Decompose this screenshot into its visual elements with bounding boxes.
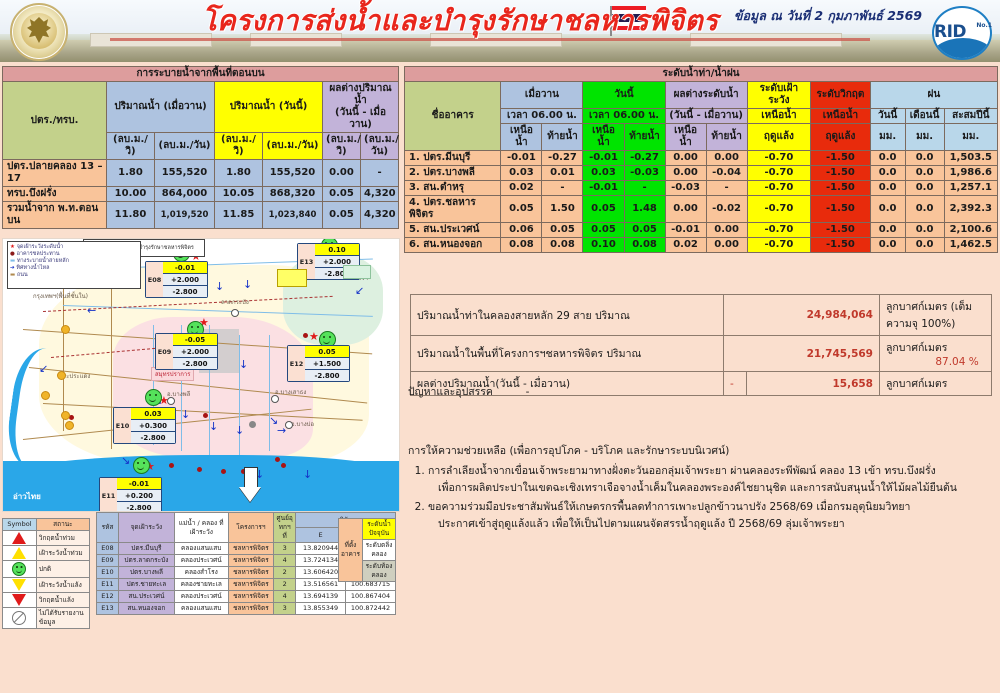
col-group-yesterday: ปริมาณน้ำ (เมื่อวาน) — [107, 82, 215, 133]
cell-rain-year: 2,100.6 — [944, 223, 997, 238]
road-icon: ▬ — [10, 272, 15, 278]
unit-y-day: (ลบ.ม./วัน) — [155, 133, 215, 160]
row-label: ทรบ.บึงฝรั่ง — [3, 187, 107, 202]
row-label: 4. ปตร.ชลหารพิจิตร — [405, 196, 501, 223]
station-code: E09 — [156, 334, 173, 369]
cell-project: ชลหารพิจิตร — [228, 543, 274, 555]
legend-label: ทิศทางน้ำไหล — [16, 265, 49, 271]
map-node-dot — [167, 397, 175, 405]
cell-warning: -0.70 — [747, 181, 811, 196]
table-row: เฝ้าระวังน้ำท่วม — [3, 546, 90, 561]
cell-rain-month: 0.0 — [905, 238, 944, 253]
cell-rain-month: 0.0 — [905, 151, 944, 166]
cell-center: 4 — [274, 555, 296, 567]
cell-y-down: -0.27 — [542, 151, 583, 166]
cell-code: E13 — [97, 603, 119, 615]
cell-diff-sec: 0.05 — [323, 202, 361, 229]
summary-label: ปริมาณน้ำในพื้นที่โครงการฯชลหารพิจิตร ปร… — [411, 336, 724, 372]
cell-point: ปตร.มีนบุรี — [118, 543, 174, 555]
cell-today-day: 155,520 — [263, 160, 323, 187]
cell-rain-year: 1,462.5 — [944, 238, 997, 253]
water-level-rainfall-table: ระดับน้ำท่า/น้ำฝน ชื่ออาคาร เมื่อวาน วัน… — [404, 66, 998, 253]
rid-logo-icon: RID No.1 — [928, 4, 994, 58]
cell-d-down: - — [706, 181, 747, 196]
subhdr-warn-dry: ฤดูแล้ง — [747, 124, 811, 151]
arrow-head — [239, 487, 261, 502]
map-outflow-arrow-icon — [239, 467, 261, 503]
cell-critical: -1.50 — [811, 196, 871, 223]
cell-y-up: 0.02 — [501, 181, 542, 196]
cell-t-down: 0.08 — [624, 238, 665, 253]
map-area-label: กรุงเทพฯ(พื้นที่ชั้นใน) — [33, 291, 88, 301]
legend-label: อาคารชลประทาน — [17, 251, 60, 257]
cell-t-up: 0.05 — [583, 196, 624, 223]
station-values: -0.01 +2.000 -2.800 — [163, 262, 207, 297]
cell-project: ชลหารพิจิตร — [228, 603, 274, 615]
cell-t-up: 0.10 — [583, 238, 624, 253]
cell-rain-month: 0.0 — [905, 196, 944, 223]
col-header-point: จุดเฝ้าระวัง — [118, 513, 174, 543]
cell-yesterday-sec: 10.00 — [107, 187, 155, 202]
status-label: เฝ้าระวังน้ำท่วม — [36, 546, 89, 561]
dashboard-page: โครงการส่งน้ำและบำรุงรักษาชลหารพิจิตร ข้… — [0, 0, 1000, 693]
cell-point: สน.ประเวศน์ — [118, 591, 174, 603]
cell-critical: -1.50 — [811, 151, 871, 166]
table-row: ไม่ได้รับรายงานข้อมูล — [3, 608, 90, 629]
level-color-legend-table: ที่ตั้งอาคาร ระดับน้ำปัจจุบัน ระดับตลิ่ง… — [338, 518, 396, 582]
station-current-level: -0.01 — [163, 262, 207, 274]
cell-north: 100.867404 — [346, 591, 396, 603]
cell-diff-day: - — [361, 160, 399, 187]
subhdr-warning-upstream: เหนือน้ำ — [747, 109, 811, 124]
station-code: E10 — [114, 408, 131, 443]
station-code: E11 — [100, 478, 117, 512]
map-legend-box: ★ จุดเฝ้าระวังระดับน้ำ ● อาคารชลประทาน ▬… — [7, 241, 141, 289]
map-node-dot — [249, 421, 256, 428]
cell-diff-sec: 0.05 — [323, 187, 361, 202]
station-bed-level: -2.800 — [117, 502, 161, 512]
col-group-difference: ผลต่างปริมาณน้ำ (วันนี้ - เมื่อวาน) — [323, 82, 399, 133]
table-row: E12 สน.ประเวศน์ คลองประเวศน์ ชลหารพิจิตร… — [97, 591, 396, 603]
cell-yesterday-sec: 11.80 — [107, 202, 155, 229]
page-footer — [0, 687, 1000, 693]
rid-logo-subtext: No.1 — [976, 22, 992, 29]
station-bed-level: -2.800 — [173, 358, 217, 369]
cell-d-down: -0.02 — [706, 196, 747, 223]
map-station-box[interactable]: E11 -0.01 +0.200 -2.800 — [99, 477, 162, 512]
table-row: ปกติ — [3, 561, 90, 578]
table-row: E13 สน.หนองจอก คลองแสนแสบ ชลหารพิจิตร 3 … — [97, 603, 396, 615]
cell-critical: -1.50 — [811, 181, 871, 196]
station-values: 0.03 +0.300 -2.800 — [131, 408, 175, 443]
map-canal — [269, 335, 270, 451]
cell-d-up: -0.01 — [665, 223, 706, 238]
table-row: วิกฤตน้ำแล้ง — [3, 593, 90, 608]
page-header: โครงการส่งน้ำและบำรุงรักษาชลหารพิจิตร ข้… — [0, 0, 1000, 62]
status-smiley-icon — [145, 389, 162, 406]
row-label: รวมน้ำจาก พ.ท.ตอนบน — [3, 202, 107, 229]
circle-slash-icon — [3, 608, 37, 629]
cell-d-up: 0.00 — [665, 196, 706, 223]
cell-t-down: -0.27 — [624, 151, 665, 166]
cell-y-down: 1.50 — [542, 196, 583, 223]
page-title: โครงการส่งน้ำและบำรุงรักษาชลหารพิจิตร — [150, 4, 770, 38]
subhdr-today-time: เวลา 06.00 น. — [583, 109, 665, 124]
triangle-up-yellow-icon — [3, 546, 37, 561]
subhdr-difference: (วันนี้ - เมื่อวาน) — [665, 109, 747, 124]
cell-today-day: 868,320 — [263, 187, 323, 202]
cell-point: ปตร.ชายทะเล — [118, 579, 174, 591]
col-group-critical-level: ระดับวิกฤต — [811, 82, 871, 109]
cell-d-down: 0.00 — [706, 223, 747, 238]
cell-yesterday-day: 864,000 — [155, 187, 215, 202]
cell-t-down: -0.03 — [624, 166, 665, 181]
cell-t-down: 1.48 — [624, 196, 665, 223]
cell-point: ปตร.ลาดกระบัง — [118, 555, 174, 567]
cell-warning: -0.70 — [747, 196, 811, 223]
table-row: 2. ปตร.บางพลี 0.03 0.01 0.03 -0.03 0.00 … — [405, 166, 998, 181]
station-bank-level: +0.300 — [131, 420, 175, 432]
cell-center: 2 — [274, 579, 296, 591]
cell-d-down: -0.04 — [706, 166, 747, 181]
circle-icon: ● — [10, 251, 15, 257]
table-header-row: ชื่ออาคาร เมื่อวาน วันนี้ ผลต่างระดับน้ำ… — [405, 82, 998, 109]
cell-d-up: 0.02 — [665, 238, 706, 253]
cell-today-sec: 10.05 — [215, 187, 263, 202]
cell-point: ปตร.บางพลี — [118, 567, 174, 579]
triangle-down-red-icon — [3, 593, 37, 608]
col-header-status: สถานะ — [36, 519, 89, 531]
map-gulf-label: อ่าวไทย — [13, 490, 41, 503]
cell-y-down: 0.08 — [542, 238, 583, 253]
status-label: ไม่ได้รับรายงานข้อมูล — [36, 608, 89, 629]
data-date-label: ข้อมูล ณ วันที่ 2 กุมภาพันธ์ 2569 — [734, 6, 922, 26]
map-junction-dot — [65, 421, 74, 430]
station-current-level: 0.10 — [315, 244, 359, 256]
legend-item: ➔ ทิศทางน้ำไหล — [10, 265, 138, 272]
symbol-status-legend-table: Symbol สถานะ วิกฤตน้ำท่วม เฝ้าระวังน้ำท่… — [2, 518, 90, 629]
cell-d-up: 0.00 — [665, 151, 706, 166]
station-current-level: 0.05 — [305, 346, 349, 358]
summary-unit-text: ลูกบาศก์เมตร — [886, 342, 947, 354]
table-title-row: การระบายน้ำจากพื้นที่ตอนบน — [3, 67, 399, 82]
cell-yesterday-day: 1,019,520 — [155, 202, 215, 229]
cell-rain-year: 1,503.5 — [944, 151, 997, 166]
legend-label: ถนน — [17, 272, 28, 278]
cell-t-up: 0.03 — [583, 166, 624, 181]
cell-d-down: 0.00 — [706, 151, 747, 166]
col-group-level-difference: ผลต่างระดับน้ำ — [665, 82, 747, 109]
map-junction-dot — [57, 371, 66, 380]
table-row: 6. สน.หนองจอก 0.08 0.08 0.10 0.08 0.02 0… — [405, 238, 998, 253]
legend-item: ▬ ถนน — [10, 272, 138, 279]
map-junction-dot — [61, 325, 70, 334]
cell-canal: คลองแสนแสบ — [174, 603, 228, 615]
station-bank-level: +0.200 — [117, 490, 161, 502]
map-area-label: อ.บางเสาธง — [275, 387, 306, 397]
legend-current-level: ระดับน้ำปัจจุบัน — [363, 519, 396, 540]
cell-point: สน.หนองจอก — [118, 603, 174, 615]
table-title-row: ระดับน้ำท่า/น้ำฝน — [405, 67, 998, 82]
unit-t-sec: (ลบ.ม./วิ) — [215, 133, 263, 160]
cell-y-down: 0.01 — [542, 166, 583, 181]
garuda-emblem-icon — [10, 3, 68, 61]
cell-warning: -0.70 — [747, 166, 811, 181]
legend-item: ★ จุดเฝ้าระวังระดับน้ำ — [10, 244, 138, 251]
cell-rain-month: 0.0 — [905, 223, 944, 238]
upper-area-drainage-table: การระบายน้ำจากพื้นที่ตอนบน ปตร./ทรบ. ปริ… — [2, 66, 399, 229]
table-row: 1. ปตร.มีนบุรี -0.01 -0.27 -0.01 -0.27 0… — [405, 151, 998, 166]
cell-rain-today: 0.0 — [870, 151, 905, 166]
cell-code: E12 — [97, 591, 119, 603]
cell-center: 4 — [274, 591, 296, 603]
summary-label: ปริมาณน้ำท่าในคลองสายหลัก 29 สาย ปริมาณ — [411, 295, 724, 336]
station-current-level: -0.05 — [173, 334, 217, 346]
project-area-map[interactable]: อ่าวไทย กรุงเทพฯ(พื้นที่ชั้นใน) สมุทรปรา… — [2, 238, 400, 512]
cell-rain-year: 1,257.1 — [944, 181, 997, 196]
problems-value: - — [526, 386, 530, 398]
summary-value: 21,745,569 — [724, 336, 880, 372]
col-group-today: วันนี้ — [583, 82, 665, 109]
cell-canal: คลองสำโรง — [174, 567, 228, 579]
subhdr-d-up: เหนือน้ำ — [665, 124, 706, 151]
map-area-label: ลาดกระบัง — [221, 297, 249, 307]
list-item: การลำเลียงน้ำจากเขื่อนเจ้าพระยามาทางฝั่ง… — [428, 463, 988, 497]
row-label: 2. ปตร.บางพลี — [405, 166, 501, 181]
cell-d-up: -0.03 — [665, 181, 706, 196]
cell-yesterday-sec: 1.80 — [107, 160, 155, 187]
cell-rain-month: 0.0 — [905, 166, 944, 181]
table-row: ทรบ.บึงฝรั่ง 10.00 864,000 10.05 868,320… — [3, 187, 399, 202]
col-header-building: ชื่ออาคาร — [405, 82, 501, 151]
cell-t-up: -0.01 — [583, 181, 624, 196]
cell-code: E08 — [97, 543, 119, 555]
map-junction-dot — [41, 391, 50, 400]
col-header-project: โครงการฯ — [228, 513, 274, 543]
unit-t-day: (ลบ.ม./วัน) — [263, 133, 323, 160]
status-smiley-icon — [133, 457, 150, 474]
station-bank-level: +1.500 — [305, 358, 349, 370]
legend-bed-level: ระดับท้องคลอง — [363, 561, 396, 582]
cell-code: E11 — [97, 579, 119, 591]
help-item-line2: ประกาศเข้าสู่ฤดูแล้งแล้ว เพื่อให้เป็นไปต… — [428, 516, 988, 533]
cell-rain-year: 2,392.3 — [944, 196, 997, 223]
legend-label: จุดเฝ้าระวังระดับน้ำ — [17, 244, 64, 250]
subhdr-rain-month: เดือนนี้ — [905, 109, 944, 124]
station-bank-level: +2.000 — [163, 274, 207, 286]
cell-canal: คลองประเวศน์ — [174, 555, 228, 567]
help-item-line2: เพื่อการผลิตประปาในเขตฉะเชิงเทราเจือจางน… — [428, 480, 988, 497]
legend-item: ▬ ทางระบายน้ำสายหลัก — [10, 258, 138, 265]
map-structure-dot — [221, 469, 226, 474]
problems-line: ปัญหาและอุปสรรค - — [408, 384, 988, 401]
map-callout-green — [343, 265, 371, 279]
cell-canal: คลองประเวศน์ — [174, 591, 228, 603]
row-label: 1. ปตร.มีนบุรี — [405, 151, 501, 166]
cell-y-down: - — [542, 181, 583, 196]
triangle-up-red-icon — [3, 531, 37, 546]
map-area-label: อ.บางบ่อ — [291, 419, 314, 429]
cell-critical: -1.50 — [811, 223, 871, 238]
cell-rain-today: 0.0 — [870, 223, 905, 238]
table-header-row: ปตร./ทรบ. ปริมาณน้ำ (เมื่อวาน) ปริมาณน้ำ… — [3, 82, 399, 133]
col-header-center: ศูนย์อุทกฯ ที่ — [274, 513, 296, 543]
table-row-total: รวมน้ำจาก พ.ท.ตอนบน 11.80 1,019,520 11.8… — [3, 202, 399, 229]
right-table-title: ระดับน้ำท่า/น้ำฝน — [405, 67, 998, 82]
col-header-symbol: Symbol — [3, 519, 37, 531]
map-canal — [239, 335, 240, 455]
subhdr-y-down: ท้ายน้ำ — [542, 124, 583, 151]
cell-t-up: 0.05 — [583, 223, 624, 238]
cell-warning: -0.70 — [747, 151, 811, 166]
triangle-down-yellow-icon — [3, 578, 37, 593]
station-bank-level: +2.000 — [173, 346, 217, 358]
map-structure-dot — [203, 413, 208, 418]
cell-rain-month: 0.0 — [905, 181, 944, 196]
cell-rain-today: 0.0 — [870, 166, 905, 181]
col-header-code: รหัส — [97, 513, 119, 543]
cell-diff-day: 4,320 — [361, 187, 399, 202]
table-row: ปตร.ปลายคลอง 13 – 17 1.80 155,520 1.80 1… — [3, 160, 399, 187]
station-values: -0.01 +0.200 -2.800 — [117, 478, 161, 512]
subhdr-unit-year: มม. — [944, 124, 997, 151]
cell-center: 2 — [274, 567, 296, 579]
table-row: 4. ปตร.ชลหารพิจิตร 0.05 1.50 0.05 1.48 0… — [405, 196, 998, 223]
subhdr-critical-upstream: เหนือน้ำ — [811, 109, 871, 124]
subhdr-t-down: ท้ายน้ำ — [624, 124, 665, 151]
row-label: 6. สน.หนองจอก — [405, 238, 501, 253]
unit-d-day: (ลบ.ม./วัน) — [361, 133, 399, 160]
subhdr-d-down: ท้ายน้ำ — [706, 124, 747, 151]
status-label: วิกฤตน้ำแล้ง — [36, 593, 89, 608]
help-item-line1: การลำเลียงน้ำจากเขื่อนเจ้าพระยามาทางฝั่ง… — [428, 465, 936, 477]
help-items-list: การลำเลียงน้ำจากเขื่อนเจ้าพระยามาทางฝั่ง… — [408, 463, 988, 533]
cell-code: E09 — [97, 555, 119, 567]
subhdr-rain-today: วันนี้ — [870, 109, 905, 124]
summary-unit: ลูกบาศก์เมตร 87.04 % — [880, 336, 992, 372]
problems-label: ปัญหาและอุปสรรค — [408, 386, 493, 398]
cell-y-down: 0.05 — [542, 223, 583, 238]
table-header-row: Symbol สถานะ — [3, 519, 90, 531]
map-callout-yellow — [277, 269, 307, 287]
cell-warning: -0.70 — [747, 223, 811, 238]
cell-project: ชลหารพิจิตร — [228, 555, 274, 567]
station-code: E12 — [288, 346, 305, 381]
help-title: การให้ความช่วยเหลือ (เพื่อการอุปโภค - บร… — [408, 443, 988, 460]
col-header-canal: แม่น้ำ / คลอง ที่ เฝ้าระวัง — [174, 513, 228, 543]
arrow-icon: ➔ — [10, 265, 15, 271]
station-current-level: 0.03 — [131, 408, 175, 420]
cell-rain-year: 1,986.6 — [944, 166, 997, 181]
cell-rain-today: 0.0 — [870, 196, 905, 223]
map-station-box[interactable]: E12 0.05 +1.500 -2.800 — [287, 345, 350, 382]
cell-yesterday-day: 155,520 — [155, 160, 215, 187]
map-structure-dot — [169, 463, 174, 468]
water-volume-summary-table: ปริมาณน้ำท่าในคลองสายหลัก 29 สาย ปริมาณ … — [410, 294, 992, 396]
summary-unit: ลูกบาศก์เมตร (เต็มความจุ 100%) — [880, 295, 992, 336]
unit-y-sec: (ลบ.ม./วิ) — [107, 133, 155, 160]
map-structure-dot — [281, 463, 286, 468]
smiley-green-icon — [3, 561, 37, 578]
map-station-box[interactable]: E08 -0.01 +2.000 -2.800 — [145, 261, 208, 298]
station-current-level: -0.01 — [117, 478, 161, 490]
table-row: 5. สน.ประเวศน์ 0.06 0.05 0.05 0.05 -0.01… — [405, 223, 998, 238]
summary-row: ปริมาณน้ำท่าในคลองสายหลัก 29 สาย ปริมาณ … — [411, 295, 992, 336]
subhdr-rain-year: สะสมปีนี้ — [944, 109, 997, 124]
subhdr-yesterday-time: เวลา 06.00 น. — [501, 109, 583, 124]
subhdr-crit-dry: ฤดูแล้ง — [811, 124, 871, 151]
col-group-warning-level: ระดับเฝ้าระวัง — [747, 82, 811, 109]
map-node-dot — [231, 309, 239, 317]
col-header-station: ปตร./ทรบ. — [3, 82, 107, 160]
station-values: -0.05 +2.000 -2.800 — [173, 334, 217, 369]
summary-value: 24,984,064 — [724, 295, 880, 336]
legend-bank-level: ระดับตลิ่งคลอง — [363, 540, 396, 561]
station-bed-level: -2.800 — [305, 370, 349, 381]
station-values: 0.05 +1.500 -2.800 — [305, 346, 349, 381]
star-icon: ★ — [10, 244, 15, 250]
cell-rain-today: 0.0 — [870, 238, 905, 253]
legend-label: ทางระบายน้ำสายหลัก — [17, 258, 69, 264]
station-code: E08 — [146, 262, 163, 297]
cell-diff-day: 4,320 — [361, 202, 399, 229]
col-group-rain: ฝน — [870, 82, 997, 109]
map-structure-dot — [197, 467, 202, 472]
help-item-line1: ขอความร่วมมือประชาสัมพันธ์ให้เกษตรกรพื้น… — [428, 501, 910, 513]
table-row: ที่ตั้งอาคาร ระดับน้ำปัจจุบัน — [339, 519, 396, 540]
row-label: 5. สน.ประเวศน์ — [405, 223, 501, 238]
summary-percent: 87.04 % — [935, 356, 978, 368]
summary-row: ปริมาณน้ำในพื้นที่โครงการฯชลหารพิจิตร ปร… — [411, 336, 992, 372]
table-row: วิกฤตน้ำท่วม — [3, 531, 90, 546]
cell-t-up: -0.01 — [583, 151, 624, 166]
cell-project: ชลหารพิจิตร — [228, 579, 274, 591]
cell-y-up: 0.08 — [501, 238, 542, 253]
cell-diff-sec: 0.00 — [323, 160, 361, 187]
col-group-today: ปริมาณน้ำ (วันนี้) — [215, 82, 323, 133]
table-row: 3. สน.ตำหรุ 0.02 - -0.01 - -0.03 - -0.70… — [405, 181, 998, 196]
subhdr-y-up: เหนือน้ำ — [501, 124, 542, 151]
row-label: ปตร.ปลายคลอง 13 – 17 — [3, 160, 107, 187]
map-station-box[interactable]: E10 0.03 +0.300 -2.800 — [113, 407, 176, 444]
subhdr-unit-month: มม. — [905, 124, 944, 151]
subhdr-t-up: เหนือน้ำ — [583, 124, 624, 151]
notes-section: ปัญหาและอุปสรรค - การให้ความช่วยเหลือ (เ… — [408, 384, 988, 535]
cell-rain-today: 0.0 — [870, 181, 905, 196]
cell-east: 13.855349 — [296, 603, 346, 615]
cell-t-down: 0.05 — [624, 223, 665, 238]
map-node-dot — [285, 421, 293, 429]
cell-warning: -0.70 — [747, 238, 811, 253]
map-node-dot — [271, 395, 279, 403]
mini-legend-label: ที่ตั้งอาคาร — [339, 519, 363, 582]
cell-center: 3 — [274, 603, 296, 615]
col-group-yesterday: เมื่อวาน — [501, 82, 583, 109]
unit-d-sec: (ลบ.ม./วิ) — [323, 133, 361, 160]
cell-d-down: 0.00 — [706, 238, 747, 253]
cell-y-up: 0.05 — [501, 196, 542, 223]
cell-y-up: 0.03 — [501, 166, 542, 181]
list-item: ขอความร่วมมือประชาสัมพันธ์ให้เกษตรกรพื้น… — [428, 499, 988, 533]
station-bed-level: -2.800 — [163, 286, 207, 297]
left-table-title: การระบายน้ำจากพื้นที่ตอนบน — [3, 67, 399, 82]
cell-d-up: 0.00 — [665, 166, 706, 181]
cell-east: 13.694139 — [296, 591, 346, 603]
map-station-box[interactable]: E09 -0.05 +2.000 -2.800 — [155, 333, 218, 370]
cell-project: ชลหารพิจิตร — [228, 567, 274, 579]
cell-project: ชลหารพิจิตร — [228, 591, 274, 603]
cell-center: 3 — [274, 543, 296, 555]
